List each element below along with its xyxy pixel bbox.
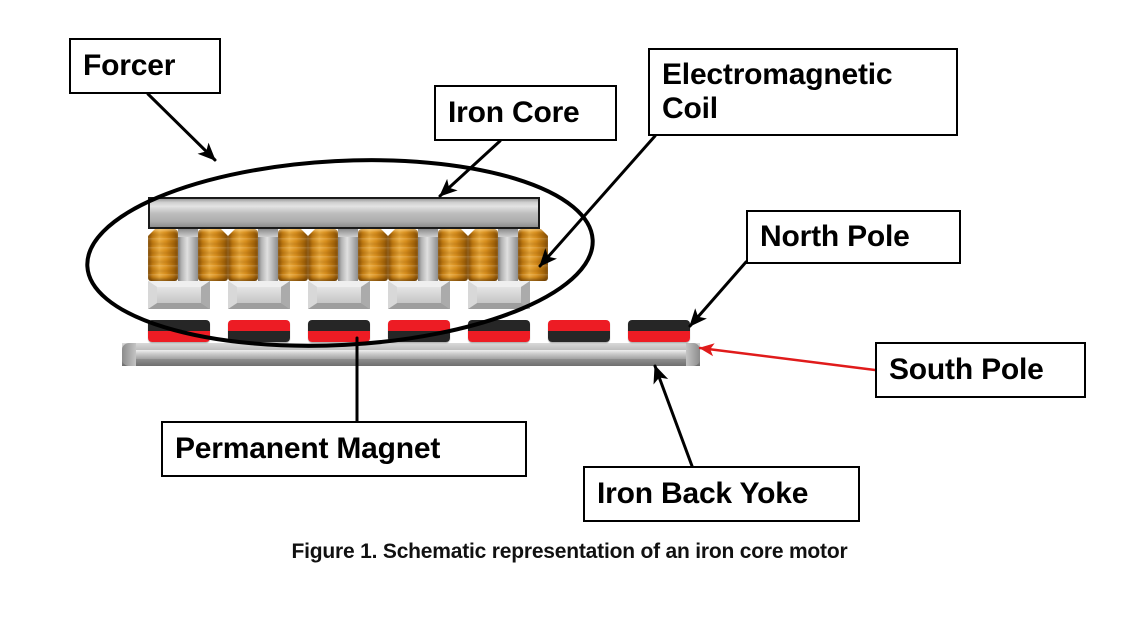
yoke-top-face (122, 343, 700, 350)
yoke-bot-face (122, 359, 700, 366)
electromagnetic-coil-4a (388, 229, 418, 281)
magnet-pole-north (148, 320, 210, 331)
pole-shoe-face (397, 287, 441, 303)
pole-shoe-5 (468, 281, 530, 309)
iron-core-tooth-2 (258, 229, 278, 281)
magnet-pole-south (148, 331, 210, 342)
callout-south-pole[interactable]: South Pole (875, 342, 1086, 398)
permanent-magnet-1 (148, 320, 210, 342)
permanent-magnet-4 (388, 320, 450, 342)
yoke-cap-l (122, 343, 136, 366)
magnet-pole-south (468, 331, 530, 342)
permanent-magnet-2 (228, 320, 290, 342)
pole-shoe-face (157, 287, 201, 303)
figure-caption: Figure 1. Schematic representation of an… (0, 540, 1139, 564)
iron-core-tooth-4 (418, 229, 438, 281)
iron-core-tooth-5 (498, 229, 518, 281)
iron-core-back-bar (148, 197, 540, 229)
pole-shoe-face (237, 287, 281, 303)
iron-core-tooth-1 (178, 229, 198, 281)
magnet-pole-south (228, 320, 290, 331)
pole-shoe-bev-b (468, 303, 530, 309)
pole-shoe-1 (148, 281, 210, 309)
yoke-cap-r (686, 343, 700, 366)
magnet-pole-north (228, 331, 290, 342)
permanent-magnet-3 (308, 320, 370, 342)
callout-north-pole[interactable]: North Pole (746, 210, 961, 264)
callout-permanent-magnet[interactable]: Permanent Magnet (161, 421, 527, 477)
callout-electromagnetic-coil[interactable]: Electromagnetic Coil (648, 48, 958, 136)
magnet-pole-south (548, 320, 610, 331)
electromagnetic-coil-3a (308, 229, 338, 281)
electromagnetic-coil-2b (278, 229, 308, 281)
electromagnetic-coil-5b (518, 229, 548, 281)
electromagnetic-coil-5a (468, 229, 498, 281)
electromagnetic-coil-4b (438, 229, 468, 281)
magnet-pole-north (468, 320, 530, 331)
electromagnetic-coil-3b (358, 229, 388, 281)
iron-core-tooth-3 (338, 229, 358, 281)
pole-shoe-face (317, 287, 361, 303)
permanent-magnet-6 (548, 320, 610, 342)
pole-shoe-4 (388, 281, 450, 309)
electromagnetic-coil-1b (198, 229, 228, 281)
electromagnetic-coil-2a (228, 229, 258, 281)
magnet-pole-south (308, 331, 370, 342)
pole-shoe-bev-b (388, 303, 450, 309)
figure-canvas: Forcer Iron Core Electromagnetic Coil No… (0, 0, 1139, 632)
callout-iron-back-yoke[interactable]: Iron Back Yoke (583, 466, 860, 522)
magnet-pole-north (628, 320, 690, 331)
callout-iron-core[interactable]: Iron Core (434, 85, 617, 141)
pole-shoe-2 (228, 281, 290, 309)
pole-shoe-bev-b (308, 303, 370, 309)
magnet-pole-south (388, 320, 450, 331)
electromagnetic-coil-1a (148, 229, 178, 281)
magnet-pole-north (388, 331, 450, 342)
iron-back-yoke (122, 343, 700, 366)
magnet-pole-north (548, 331, 610, 342)
permanent-magnet-5 (468, 320, 530, 342)
pole-shoe-3 (308, 281, 370, 309)
pole-shoe-bev-b (148, 303, 210, 309)
pole-shoe-face (477, 287, 521, 303)
magnet-pole-south (628, 331, 690, 342)
callout-forcer[interactable]: Forcer (69, 38, 221, 94)
pole-shoe-bev-b (228, 303, 290, 309)
permanent-magnet-7 (628, 320, 690, 342)
magnet-pole-north (308, 320, 370, 331)
yoke-mid-face (122, 350, 700, 359)
